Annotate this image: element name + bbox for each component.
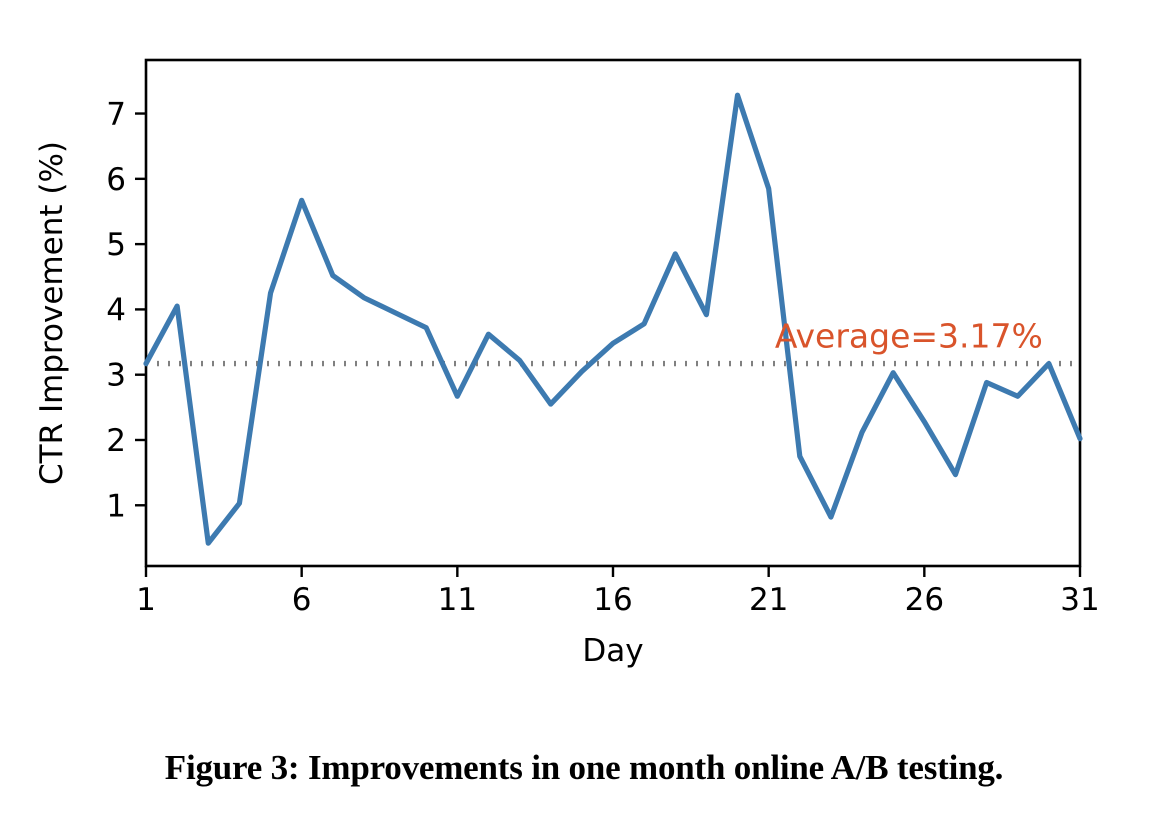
figure-caption: Figure 3: Improvements in one month onli…	[0, 748, 1168, 788]
plot-area-frame	[146, 60, 1080, 566]
y-axis-title: CTR Improvement (%)	[34, 141, 70, 485]
x-axis-tick-labels: 161116212631	[136, 582, 1100, 618]
y-tick-label: 1	[106, 488, 126, 524]
average-annotation-label: Average=3.17%	[775, 317, 1043, 356]
y-tick-label: 6	[106, 162, 126, 198]
ctr-improvement-line-chart: 1234567 161116212631 Average=3.17% Day C…	[0, 0, 1168, 740]
x-tick-label: 31	[1060, 582, 1099, 618]
x-tick-label: 6	[292, 582, 312, 618]
y-tick-label: 5	[106, 227, 126, 263]
figure-container: 1234567 161116212631 Average=3.17% Day C…	[0, 0, 1168, 824]
x-tick-label: 21	[749, 582, 788, 618]
x-axis-title: Day	[582, 633, 643, 669]
y-tick-label: 2	[106, 423, 126, 459]
x-tick-label: 1	[136, 582, 156, 618]
y-tick-label: 4	[106, 292, 126, 328]
y-tick-label: 3	[106, 358, 126, 394]
x-tick-label: 16	[593, 582, 632, 618]
x-axis-ticks	[146, 566, 1080, 577]
x-tick-label: 11	[438, 582, 477, 618]
y-axis-ticks	[135, 114, 146, 506]
x-tick-label: 26	[905, 582, 944, 618]
y-axis-tick-labels: 1234567	[106, 97, 126, 525]
y-tick-label: 7	[106, 97, 126, 133]
